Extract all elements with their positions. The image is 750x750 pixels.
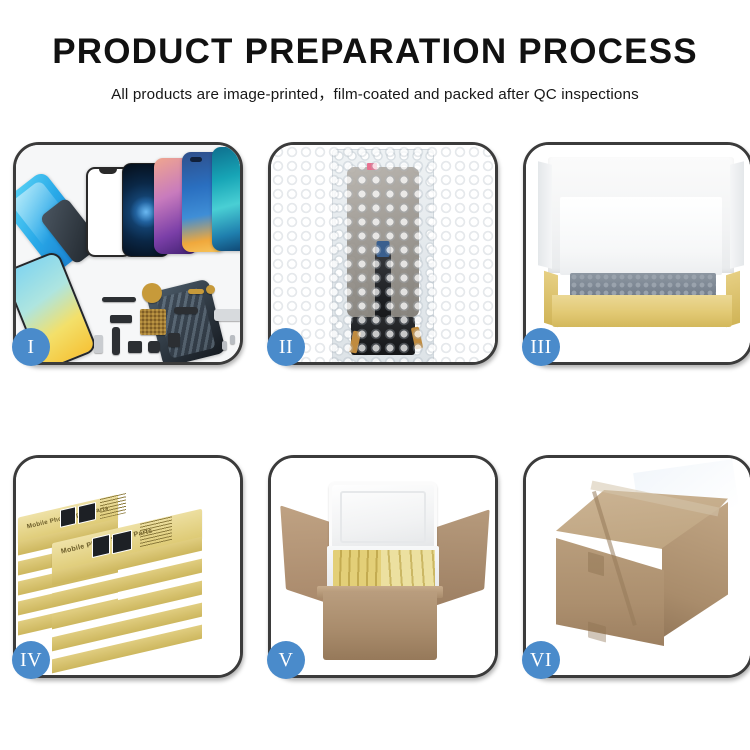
carton-front-face-icon [556, 538, 664, 646]
step-badge-3: III [522, 328, 560, 366]
process-steps-grid: I II [13, 142, 743, 678]
step-5-image [271, 458, 495, 675]
step-badge-2: II [267, 328, 305, 366]
box-phone-thumbnail [92, 534, 110, 558]
process-step-6: VI [523, 455, 750, 678]
small-module-icon [110, 315, 132, 323]
step-badge-1: I [12, 328, 50, 366]
box-spec-lines [100, 493, 126, 519]
flex-cable-icon [112, 327, 120, 355]
page-subtitle: All products are image-printed，film-coat… [0, 82, 750, 104]
carton-front-icon [323, 592, 437, 660]
lcd-connector-icon [377, 241, 390, 257]
inner-yellow-boxes-icon [381, 550, 435, 588]
step-2-image [271, 145, 495, 362]
button-part-icon [206, 285, 215, 294]
bubble-wrap-scene [271, 145, 495, 362]
step-4-image: Mobile Phone Spare Parts Mobile Phone Sp… [16, 458, 240, 675]
tray-box-scene [526, 145, 750, 362]
vibrator-part-icon [128, 341, 142, 353]
screw-icon [230, 335, 235, 344]
white-foam-sheet-icon [560, 197, 722, 275]
yellow-box-front-icon [552, 295, 732, 327]
tool-icon [214, 309, 240, 321]
speaker-part-icon [102, 297, 136, 302]
pink-label-tab-icon [367, 163, 377, 170]
flex-connector-icon [188, 289, 204, 294]
earpiece-part-icon [148, 341, 160, 353]
teal-wave-phone-icon [212, 147, 240, 251]
screw-icon [222, 341, 227, 350]
step-3-image [526, 145, 750, 362]
step-1-image [16, 145, 240, 362]
box-phone-thumbnail [60, 506, 76, 528]
process-step-3: III [523, 142, 750, 365]
step-badge-5: V [267, 641, 305, 679]
process-step-2: II [268, 142, 498, 365]
ic-chip-grid-icon [140, 309, 166, 335]
stacked-boxes-scene: Mobile Phone Spare Parts Mobile Phone Sp… [16, 458, 240, 675]
lcd-bottom-assembly-icon [351, 317, 415, 355]
step-badge-6: VI [522, 641, 560, 679]
camera-module-icon [142, 283, 162, 303]
phone-parts-scene [16, 145, 240, 362]
page-title: PRODUCT PREPARATION PROCESS [0, 34, 750, 71]
process-step-1: I [13, 142, 243, 365]
sealed-carton-scene [526, 458, 750, 675]
open-carton-scene [271, 458, 495, 675]
antenna-part-icon [174, 307, 198, 314]
process-step-4: Mobile Phone Spare Parts Mobile Phone Sp… [13, 455, 243, 678]
step-6-image [526, 458, 750, 675]
sensor-part-icon [168, 333, 180, 347]
step-badge-4: IV [12, 641, 50, 679]
process-step-5: V [268, 455, 498, 678]
page-header: PRODUCT PREPARATION PROCESS All products… [0, 0, 750, 104]
foam-lid-icon [329, 482, 437, 552]
carton-tab-icon [588, 552, 604, 577]
sim-tray-icon [94, 335, 103, 353]
